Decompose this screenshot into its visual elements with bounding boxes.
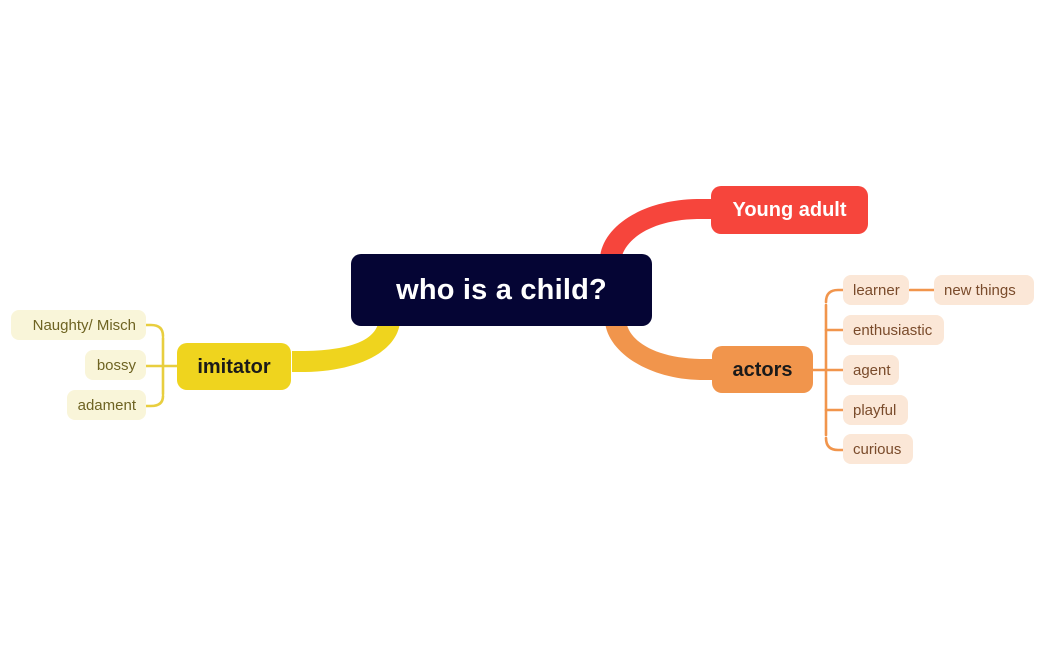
leaf-node-adament[interactable]: adament	[67, 390, 146, 420]
branch-node-young-adult[interactable]: Young adult	[711, 186, 868, 234]
leaf-node-agent[interactable]: agent	[843, 355, 899, 385]
root-node[interactable]: who is a child?	[351, 254, 652, 326]
branch-node-actors[interactable]: actors	[712, 346, 813, 393]
leaf-node-bossy[interactable]: bossy	[85, 350, 146, 380]
edge-imitator-bracket	[146, 325, 177, 406]
edge-root-actors	[605, 320, 713, 380]
leaf-node-enthusiastic[interactable]: enthusiastic	[843, 315, 944, 345]
leaf-node-new-things[interactable]: new things	[934, 275, 1034, 305]
leaf-node-curious[interactable]: curious	[843, 434, 913, 464]
leaf-node-playful[interactable]: playful	[843, 395, 908, 425]
mindmap-canvas: who is a child? Young adult actors imita…	[0, 0, 1049, 650]
edge-root-imitator	[292, 320, 400, 372]
leaf-node-naughty-misch[interactable]: Naughty/ Misch	[11, 310, 146, 340]
edge-root-young-adult	[600, 199, 712, 260]
edge-actors-bracket	[813, 290, 844, 450]
branch-node-imitator[interactable]: imitator	[177, 343, 291, 390]
leaf-node-learner[interactable]: learner	[843, 275, 909, 305]
